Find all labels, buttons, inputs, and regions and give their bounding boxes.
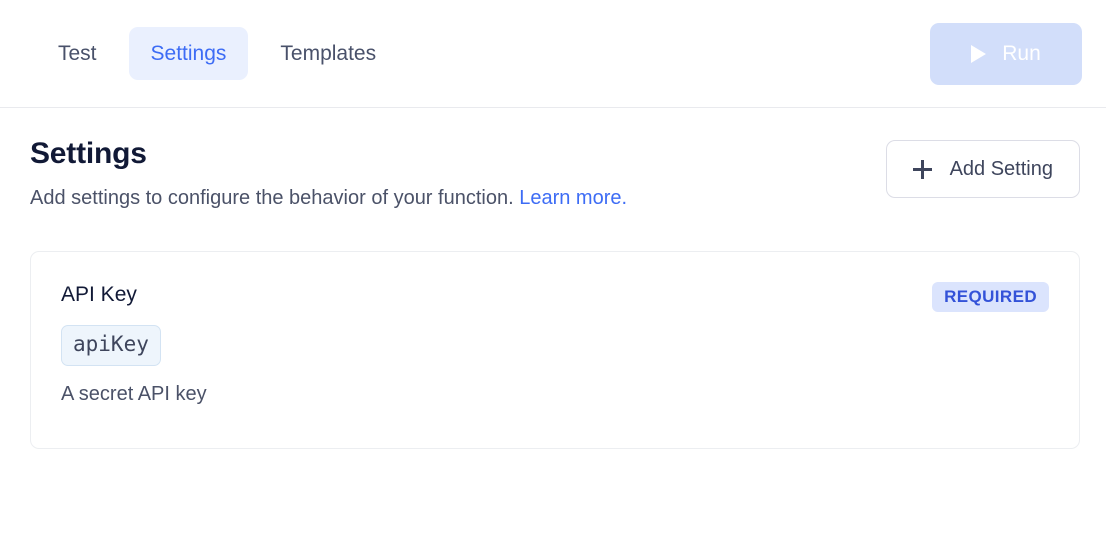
plus-icon <box>913 160 932 179</box>
play-icon <box>971 45 986 63</box>
setting-description: A secret API key <box>61 381 1049 407</box>
setting-card[interactable]: API Key REQUIRED apiKey A secret API key <box>30 251 1080 449</box>
settings-page: Test Settings Templates Run Settings Add… <box>0 0 1106 534</box>
status-badge: REQUIRED <box>932 282 1049 312</box>
page-description-text: Add settings to configure the behavior o… <box>30 187 519 209</box>
tab-bar: Test Settings Templates Run <box>0 0 1106 108</box>
learn-more-link[interactable]: Learn more. <box>519 187 627 209</box>
setting-name: API Key <box>61 282 137 307</box>
run-button[interactable]: Run <box>930 23 1082 85</box>
page-header: Settings Add settings to configure the b… <box>30 136 1080 214</box>
tab-settings[interactable]: Settings <box>129 27 249 80</box>
run-button-label: Run <box>1002 43 1041 64</box>
add-setting-label: Add Setting <box>950 159 1053 179</box>
tab-list: Test Settings Templates <box>36 27 930 80</box>
page-title: Settings <box>30 136 627 172</box>
page-description: Add settings to configure the behavior o… <box>30 182 627 214</box>
page-body: Settings Add settings to configure the b… <box>0 108 1106 449</box>
setting-key-chip: apiKey <box>61 325 161 365</box>
setting-card-header: API Key REQUIRED <box>61 282 1049 312</box>
settings-list: API Key REQUIRED apiKey A secret API key <box>30 251 1080 449</box>
add-setting-button[interactable]: Add Setting <box>886 140 1080 198</box>
tab-test[interactable]: Test <box>36 27 119 80</box>
page-header-text: Settings Add settings to configure the b… <box>30 136 627 214</box>
tab-templates[interactable]: Templates <box>258 27 398 80</box>
